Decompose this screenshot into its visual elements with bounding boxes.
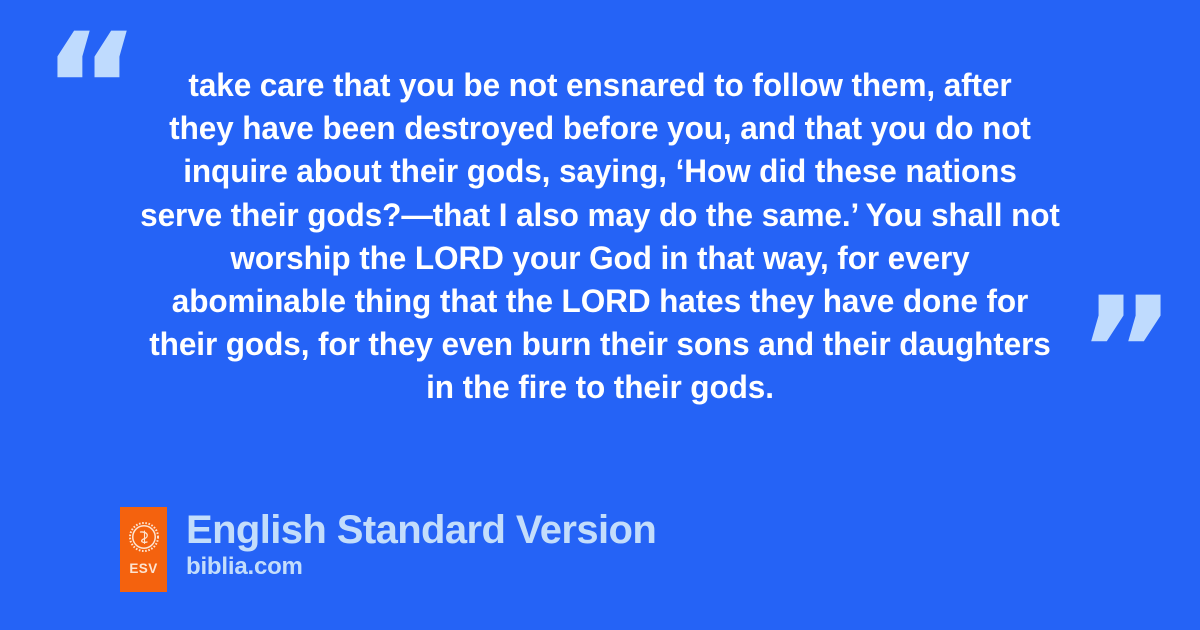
esv-logo-label: ESV xyxy=(120,561,167,576)
esv-logo: ESV xyxy=(120,507,167,592)
branding-block: ESV English Standard Version biblia.com xyxy=(120,507,656,592)
verse-image-card: “ ” take care that you be not ensnared t… xyxy=(0,0,1200,630)
brand-text-group: English Standard Version biblia.com xyxy=(186,507,656,581)
quote-line: take care that you be not ensnared to fo… xyxy=(125,64,1076,107)
quote-line: abominable thing that the LORD hates the… xyxy=(125,280,1076,323)
quote-line: in the fire to their gods. xyxy=(125,366,1076,409)
quote-line: their gods, for they even burn their son… xyxy=(125,323,1076,366)
quote-line: they have been destroyed before you, and… xyxy=(125,107,1076,150)
quote-line: inquire about their gods, saying, ‘How d… xyxy=(125,150,1076,193)
quote-text-block: take care that you be not ensnared to fo… xyxy=(110,64,1090,410)
esv-seal-icon xyxy=(129,522,159,552)
brand-title: English Standard Version xyxy=(186,508,656,552)
closing-quote-icon: ” xyxy=(1077,278,1174,428)
quote-line: worship the LORD your God in that way, f… xyxy=(125,237,1076,280)
brand-url[interactable]: biblia.com xyxy=(186,553,656,581)
quote-line: serve their gods?—that I also may do the… xyxy=(125,194,1076,237)
